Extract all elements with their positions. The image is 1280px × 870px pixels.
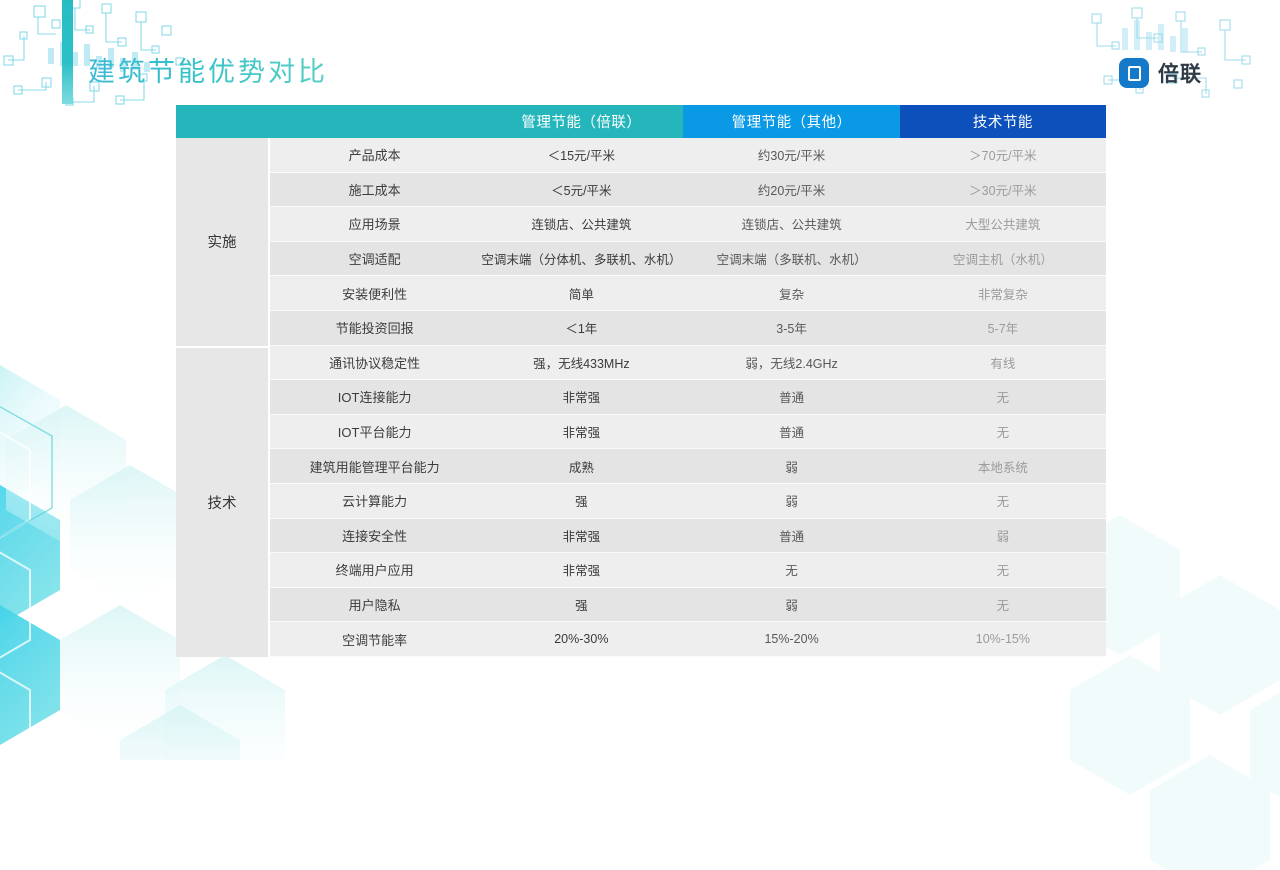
cell-technical: 无 (900, 484, 1106, 519)
table-row: 实施产品成本＜15元/平米约30元/平米＞70元/平米 (176, 138, 1106, 173)
cell-technical: ＞30元/平米 (900, 173, 1106, 208)
row-group-label: 实施 (176, 138, 270, 346)
cell-technical: 非常复杂 (900, 276, 1106, 311)
cell-managed-other: 普通 (683, 380, 899, 415)
cell-managed-other: 约20元/平米 (683, 173, 899, 208)
table-row: 安装便利性简单复杂非常复杂 (176, 276, 1106, 311)
cell-technical: 10%-15% (900, 622, 1106, 657)
cell-managed-other: 空调末端（多联机、水机） (683, 242, 899, 277)
cell-managed-beilian: 强 (479, 484, 683, 519)
cell-managed-other: 弱，无线2.4GHz (683, 346, 899, 381)
metric-label: 云计算能力 (270, 484, 479, 519)
cell-technical: 大型公共建筑 (900, 207, 1106, 242)
cell-technical: 无 (900, 415, 1106, 450)
comparison-table: 管理节能（倍联） 管理节能（其他） 技术节能 实施产品成本＜15元/平米约30元… (176, 105, 1106, 657)
cell-managed-beilian: 非常强 (479, 519, 683, 554)
cell-technical: 无 (900, 380, 1106, 415)
table-row: IOT连接能力非常强普通无 (176, 380, 1106, 415)
header-col-managed-other: 管理节能（其他） (683, 105, 899, 138)
cell-technical: 弱 (900, 519, 1106, 554)
cell-managed-other: 约30元/平米 (683, 138, 899, 173)
header-blank (176, 105, 479, 138)
brand-logo: 倍联 (1119, 58, 1202, 88)
metric-label: 连接安全性 (270, 519, 479, 554)
table-row: 空调适配空调末端（分体机、多联机、水机）空调末端（多联机、水机）空调主机（水机） (176, 242, 1106, 277)
cell-technical: 5-7年 (900, 311, 1106, 346)
cell-managed-beilian: 简单 (479, 276, 683, 311)
cell-managed-other: 弱 (683, 484, 899, 519)
cell-technical: 本地系统 (900, 449, 1106, 484)
cell-managed-beilian: 非常强 (479, 380, 683, 415)
cell-managed-beilian: ＜5元/平米 (479, 173, 683, 208)
metric-label: 空调节能率 (270, 622, 479, 657)
table-row: 用户隐私强弱无 (176, 588, 1106, 623)
row-group-label: 技术 (176, 346, 270, 657)
metric-label: 用户隐私 (270, 588, 479, 623)
metric-label: IOT连接能力 (270, 380, 479, 415)
table-header-row: 管理节能（倍联） 管理节能（其他） 技术节能 (176, 105, 1106, 138)
metric-label: 应用场景 (270, 207, 479, 242)
header-col-managed-beilian: 管理节能（倍联） (479, 105, 683, 138)
cell-technical: 有线 (900, 346, 1106, 381)
metric-label: 节能投资回报 (270, 311, 479, 346)
table-row: IOT平台能力非常强普通无 (176, 415, 1106, 450)
cell-managed-beilian: 空调末端（分体机、多联机、水机） (479, 242, 683, 277)
metric-label: 空调适配 (270, 242, 479, 277)
cell-managed-other: 弱 (683, 588, 899, 623)
page-title: 建筑节能优势对比 (88, 50, 328, 89)
metric-label: 通讯协议稳定性 (270, 346, 479, 381)
table-row: 施工成本＜5元/平米约20元/平米＞30元/平米 (176, 173, 1106, 208)
table-row: 云计算能力强弱无 (176, 484, 1106, 519)
cell-managed-other: 弱 (683, 449, 899, 484)
table-row: 建筑用能管理平台能力成熟弱本地系统 (176, 449, 1106, 484)
cell-technical: ＞70元/平米 (900, 138, 1106, 173)
table-row: 应用场景连锁店、公共建筑连锁店、公共建筑大型公共建筑 (176, 207, 1106, 242)
header-col-technical: 技术节能 (900, 105, 1106, 138)
metric-label: 建筑用能管理平台能力 (270, 449, 479, 484)
cell-managed-other: 普通 (683, 415, 899, 450)
cell-managed-other: 普通 (683, 519, 899, 554)
cell-managed-beilian: 非常强 (479, 415, 683, 450)
title-accent-bar (62, 0, 73, 104)
metric-label: 终端用户应用 (270, 553, 479, 588)
rounded-square-logo-icon (1119, 58, 1149, 88)
table-row: 技术通讯协议稳定性强，无线433MHz弱，无线2.4GHz有线 (176, 346, 1106, 381)
table-row: 连接安全性非常强普通弱 (176, 519, 1106, 554)
cell-managed-beilian: 强 (479, 588, 683, 623)
metric-label: 产品成本 (270, 138, 479, 173)
cell-managed-beilian: ＜15元/平米 (479, 138, 683, 173)
metric-label: IOT平台能力 (270, 415, 479, 450)
cell-managed-beilian: 连锁店、公共建筑 (479, 207, 683, 242)
brand-name: 倍联 (1158, 58, 1202, 88)
cell-managed-beilian: 20%-30% (479, 622, 683, 657)
cell-managed-other: 无 (683, 553, 899, 588)
metric-label: 施工成本 (270, 173, 479, 208)
cell-managed-other: 15%-20% (683, 622, 899, 657)
cell-managed-other: 复杂 (683, 276, 899, 311)
metric-label: 安装便利性 (270, 276, 479, 311)
table-row: 节能投资回报＜1年3-5年5-7年 (176, 311, 1106, 346)
table-row: 空调节能率20%-30%15%-20%10%-15% (176, 622, 1106, 657)
cell-technical: 无 (900, 553, 1106, 588)
cell-managed-beilian: 非常强 (479, 553, 683, 588)
cell-managed-other: 连锁店、公共建筑 (683, 207, 899, 242)
cell-managed-other: 3-5年 (683, 311, 899, 346)
table-row: 终端用户应用非常强无无 (176, 553, 1106, 588)
cell-technical: 无 (900, 588, 1106, 623)
cell-managed-beilian: ＜1年 (479, 311, 683, 346)
cell-managed-beilian: 强，无线433MHz (479, 346, 683, 381)
cell-managed-beilian: 成熟 (479, 449, 683, 484)
cell-technical: 空调主机（水机） (900, 242, 1106, 277)
